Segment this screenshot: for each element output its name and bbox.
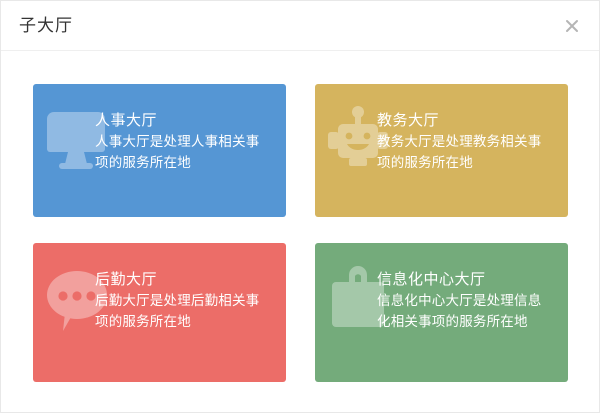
card-description: 信息化中心大厅是处理信息化相关事项的服务所在地 [377,290,554,332]
card-title: 信息化中心大厅 [377,270,554,290]
sub-hall-card-logistics[interactable]: 后勤大厅 后勤大厅是处理后勤相关事项的服务所在地 [33,243,286,382]
card-text: 人事大厅 人事大厅是处理人事相关事项的服务所在地 [33,84,286,173]
card-title: 人事大厅 [95,111,272,131]
card-text: 后勤大厅 后勤大厅是处理后勤相关事项的服务所在地 [33,243,286,332]
card-description: 后勤大厅是处理后勤相关事项的服务所在地 [95,290,272,332]
sub-hall-card-grid: 人事大厅 人事大厅是处理人事相关事项的服务所在地 [1,51,599,413]
card-text: 教务大厅 教务大厅是处理教务相关事项的服务所在地 [315,84,568,173]
card-title: 教务大厅 [377,111,554,131]
dialog-header: 子大厅 [1,1,599,51]
sub-hall-card-it-center[interactable]: 信息化中心大厅 信息化中心大厅是处理信息化相关事项的服务所在地 [315,243,568,382]
card-description: 人事大厅是处理人事相关事项的服务所在地 [95,131,272,173]
sub-hall-card-academic[interactable]: 教务大厅 教务大厅是处理教务相关事项的服务所在地 [315,84,568,217]
card-description: 教务大厅是处理教务相关事项的服务所在地 [377,131,554,173]
sub-hall-card-personnel[interactable]: 人事大厅 人事大厅是处理人事相关事项的服务所在地 [33,84,286,217]
sub-hall-dialog: 子大厅 人事大厅 人事大厅是处理人事相 [0,0,600,413]
close-icon [562,16,582,36]
card-text: 信息化中心大厅 信息化中心大厅是处理信息化相关事项的服务所在地 [315,243,568,332]
page-title: 子大厅 [19,17,73,34]
card-title: 后勤大厅 [95,270,272,290]
close-button[interactable] [562,16,582,36]
dialog-body: 人事大厅 人事大厅是处理人事相关事项的服务所在地 [1,51,599,413]
